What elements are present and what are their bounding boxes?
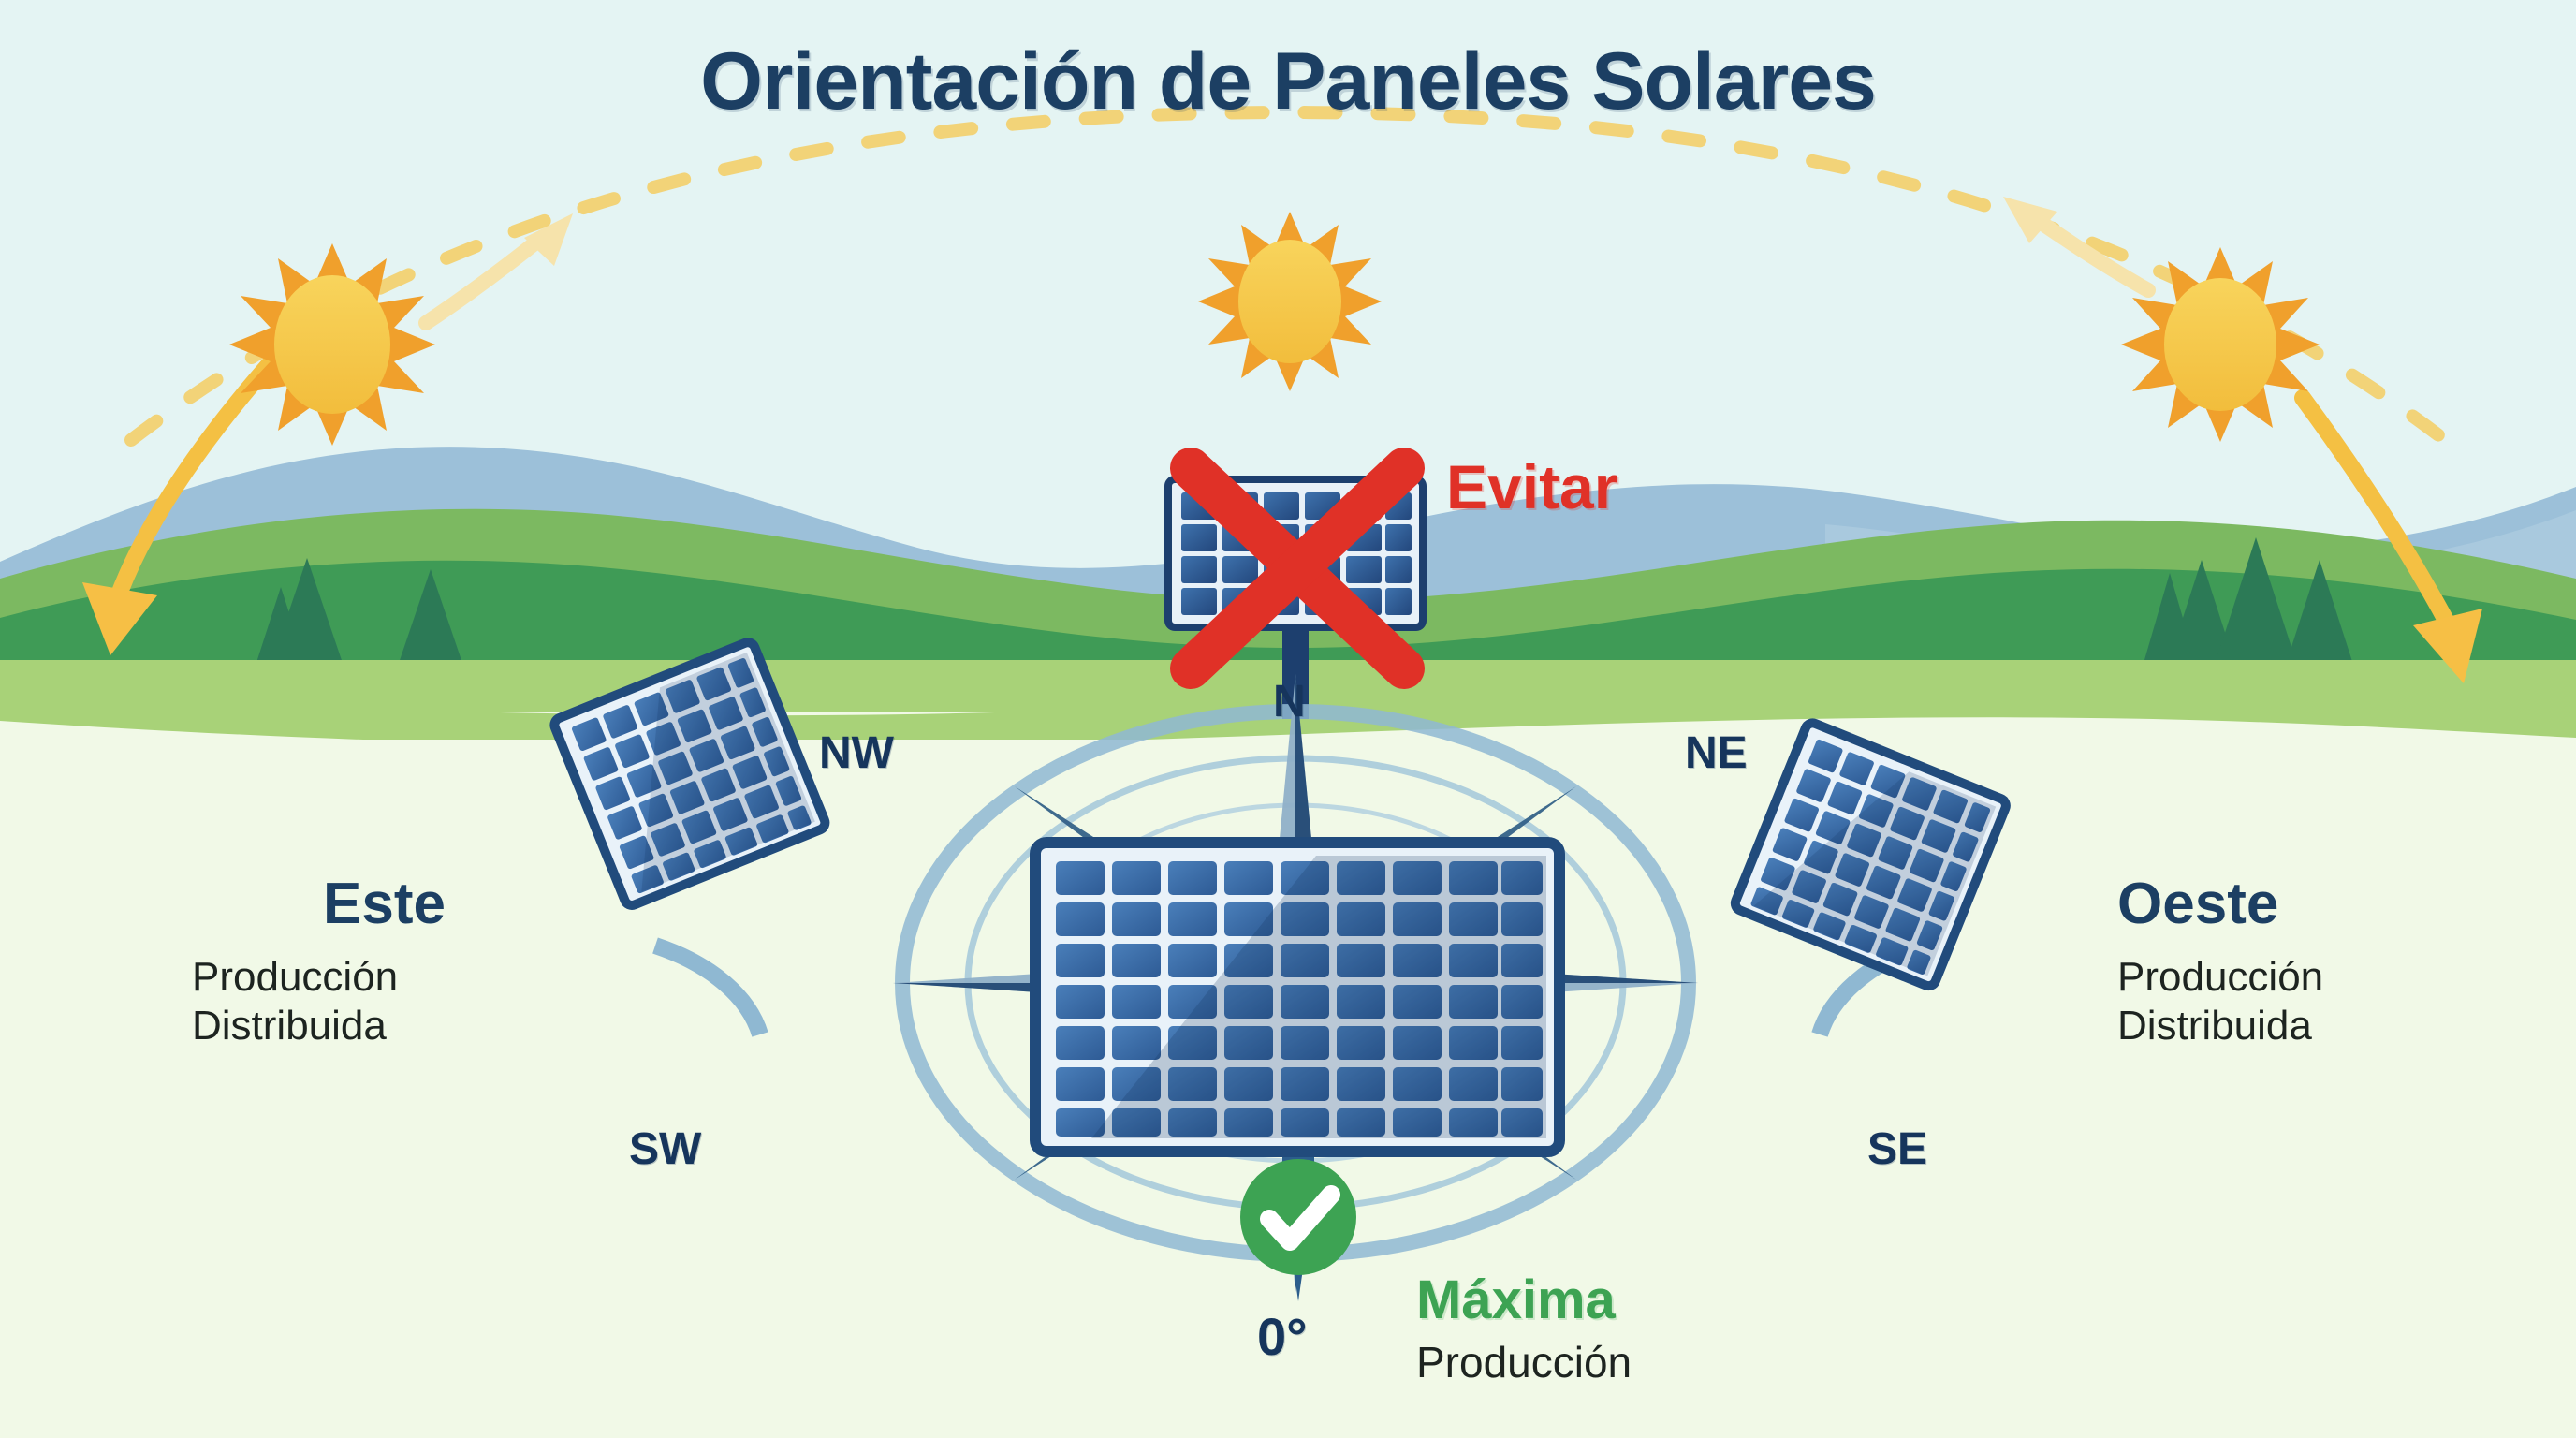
page-title: Orientación de Paneles Solares: [0, 36, 2576, 128]
compass-label-se: SE: [1867, 1123, 1927, 1175]
west-subtitle-line1: Producción: [2117, 953, 2323, 1002]
sun-arrow-left-up: [426, 213, 573, 323]
west-subtitle: Producción Distribuida: [2117, 953, 2323, 1050]
east-subtitle: Producción Distribuida: [192, 953, 398, 1050]
infographic-canvas: Orientación de Paneles Solares Evitar Es…: [0, 0, 2576, 1438]
sun-icon-center: [1198, 212, 1382, 391]
east-subtitle-line1: Producción: [192, 953, 398, 1002]
compass-label-sw: SW: [629, 1123, 701, 1175]
avoid-label: Evitar: [1446, 451, 1617, 522]
optimal-title: Máxima: [1416, 1269, 1616, 1331]
east-title: Este: [323, 871, 446, 937]
west-subtitle-line2: Distribuida: [2117, 1002, 2323, 1050]
sun-icon-right: [2121, 247, 2320, 442]
compass-label-n: N: [1273, 676, 1306, 727]
compass-label-nw: NW: [819, 727, 894, 779]
sun-arrow-right-up: [2003, 197, 2148, 290]
optimal-angle-label: 0°: [1257, 1306, 1308, 1367]
center-panel-optimal: [1035, 843, 1559, 1208]
optimal-subtitle: Producción: [1416, 1337, 1632, 1387]
compass-label-ne: NE: [1685, 727, 1748, 779]
east-subtitle-line2: Distribuida: [192, 1002, 398, 1050]
west-title: Oeste: [2117, 871, 2278, 937]
